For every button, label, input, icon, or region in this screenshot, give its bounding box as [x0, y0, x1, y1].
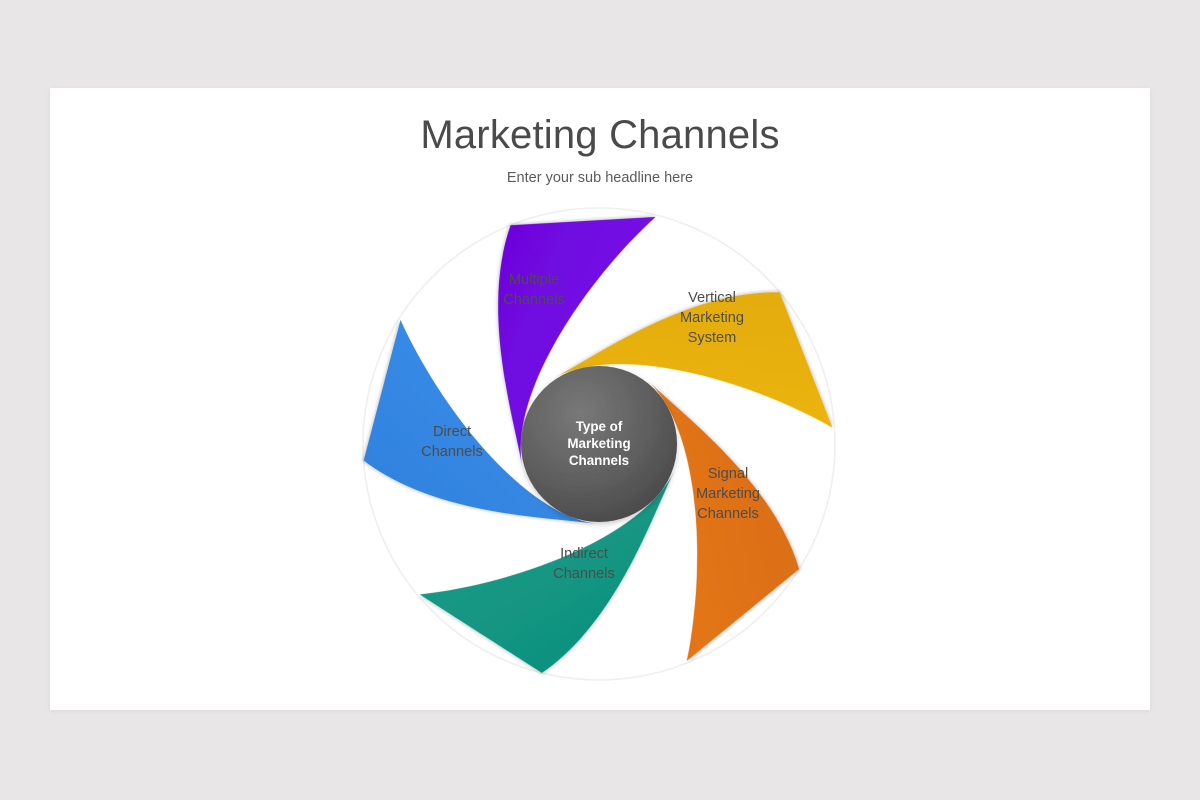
slide-canvas: Marketing Channels Enter your sub headli…	[50, 88, 1150, 710]
pinwheel-diagram	[50, 88, 1150, 710]
hub-circle[interactable]	[521, 366, 677, 522]
